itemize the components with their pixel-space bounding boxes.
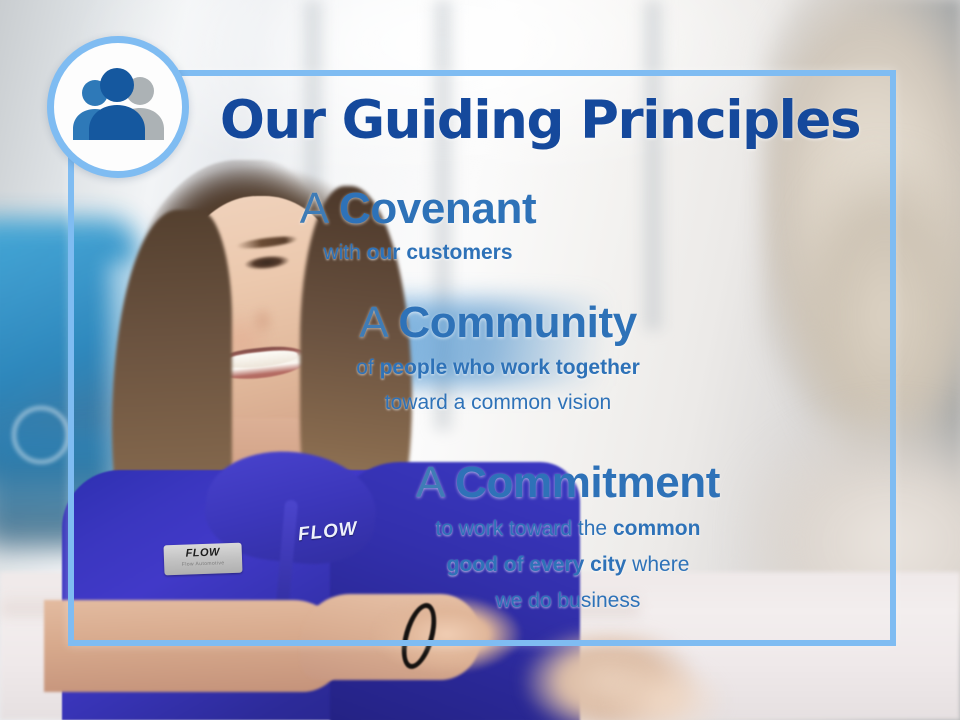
principle-detail-line: we do business: [248, 587, 888, 615]
detail-text: with: [323, 241, 366, 264]
detail-text-bold: common: [613, 517, 701, 540]
principle-block-covenant: A Covenant with our customers: [138, 186, 698, 267]
detail-text: of: [356, 356, 379, 379]
principle-detail-line: with our customers: [138, 239, 698, 267]
principle-keyword: Commitment: [455, 458, 720, 507]
group-of-people-icon-glyph: [66, 68, 170, 146]
group-of-people-icon: [47, 36, 189, 178]
principle-article: A: [416, 458, 443, 507]
poster-canvas: FLOW Flow Automotive FLOW Our Guiding Pr…: [0, 0, 960, 720]
detail-text: where: [626, 553, 689, 576]
page-title: Our Guiding Principles: [210, 94, 870, 147]
principle-heading-covenant: A Covenant: [138, 186, 698, 233]
detail-text: toward a common vision: [385, 391, 611, 414]
customer-hand-highlight: [600, 660, 730, 720]
detail-text-bold: people who work together: [380, 356, 640, 379]
principle-heading-commitment: A Commitment: [248, 460, 888, 507]
detail-text-bold: good of every city: [447, 553, 627, 576]
principle-article: A: [300, 184, 327, 233]
principle-article: A: [359, 298, 386, 347]
detail-text: to work toward the: [436, 517, 613, 540]
principle-detail-line: of people who work together: [188, 354, 808, 382]
principle-keyword: Community: [398, 298, 636, 347]
principle-block-community: A Community of people who work together …: [188, 300, 808, 417]
principle-detail-line: good of every city where: [248, 551, 888, 579]
principle-detail-line: to work toward the common: [248, 515, 888, 543]
detail-text: we do business: [496, 589, 641, 612]
principle-block-commitment: A Commitment to work toward the common g…: [248, 460, 888, 616]
principle-detail-line: toward a common vision: [188, 389, 808, 417]
blurred-vehicle-badge: [12, 406, 70, 464]
detail-text-bold: our customers: [367, 241, 513, 264]
principle-keyword: Covenant: [339, 184, 536, 233]
principle-heading-community: A Community: [188, 300, 808, 347]
